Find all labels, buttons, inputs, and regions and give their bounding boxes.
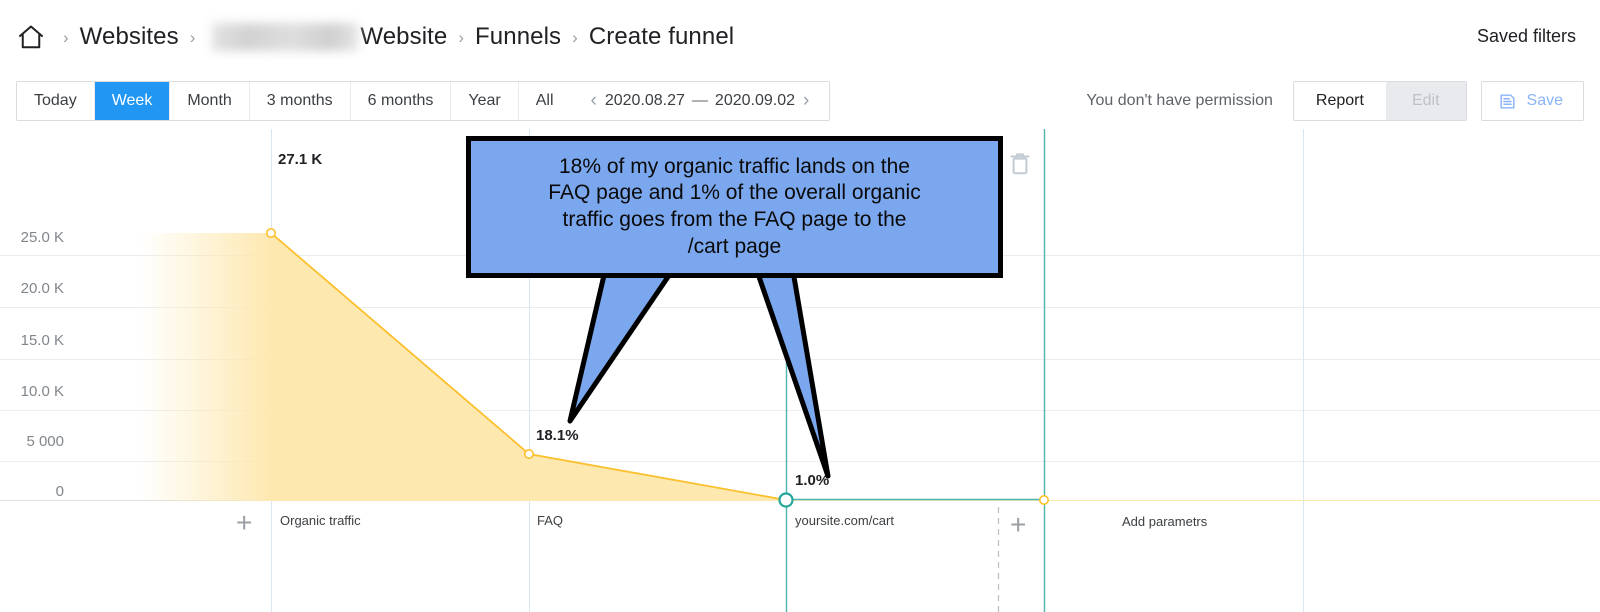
saved-filters-link[interactable]: Saved filters (1477, 26, 1584, 47)
date-range-presets: Today Week Month 3 months 6 months Year … (16, 81, 572, 121)
breadcrumb-separator-2: › (458, 28, 464, 48)
date-range-dash: — (685, 92, 715, 110)
range-year[interactable]: Year (451, 82, 518, 120)
breadcrumb-separator-0: › (63, 28, 69, 48)
y-tick-20k: 20.0 K (0, 280, 64, 297)
date-from[interactable]: 2020.08.27 (605, 92, 685, 110)
report-edit-toggle: Report Edit (1293, 81, 1467, 121)
breadcrumb-item-funnels[interactable]: Funnels (475, 23, 561, 51)
y-tick-5000: 5 000 (0, 433, 64, 450)
date-to[interactable]: 2020.09.02 (715, 92, 795, 110)
toolbar-actions: You don't have permission Report Edit Sa… (1086, 81, 1584, 121)
y-tick-15k: 15.0 K (0, 332, 64, 349)
conversion-label-cart: 1.0% (795, 472, 829, 489)
conversion-label-faq: 18.1% (536, 427, 579, 444)
y-tick-10k: 10.0 K (0, 383, 64, 400)
data-point-organic-traffic (267, 229, 275, 237)
annotation-callout-text: 18% of my organic traffic lands on the F… (532, 154, 936, 261)
breadcrumb: › Websites › Website › Funnels › Create … (0, 0, 1600, 73)
chevron-left-icon[interactable]: ‹ (583, 90, 605, 112)
funnel-chart: 25.0 K 20.0 K 15.0 K 10.0 K 5 000 0 27.1… (0, 129, 1600, 612)
data-point-faq (525, 450, 533, 458)
date-range-navigator: ‹ 2020.08.27 — 2020.09.02 › (571, 81, 831, 121)
breadcrumb-redacted-site-name (212, 23, 358, 51)
step-label-organic-traffic[interactable]: Organic traffic (280, 513, 361, 528)
edit-button: Edit (1386, 82, 1466, 120)
toolbar: Today Week Month 3 months 6 months Year … (0, 73, 1600, 129)
add-step-button-right[interactable]: + (1010, 511, 1026, 539)
permission-note: You don't have permission (1086, 92, 1273, 110)
breadcrumb-separator-3: › (572, 28, 578, 48)
breadcrumb-item-create-funnel[interactable]: Create funnel (589, 23, 734, 51)
home-icon[interactable] (16, 22, 52, 52)
range-3-months[interactable]: 3 months (250, 82, 351, 120)
trash-icon (1008, 151, 1032, 177)
y-tick-25k: 25.0 K (0, 229, 64, 246)
save-button[interactable]: Save (1481, 81, 1584, 121)
range-today[interactable]: Today (17, 82, 95, 120)
chevron-right-icon[interactable]: › (795, 90, 817, 112)
breadcrumb-item-websites[interactable]: Websites (80, 23, 179, 51)
value-label-organic-traffic: 27.1 K (278, 151, 322, 168)
add-step-button-left[interactable]: + (236, 509, 252, 537)
range-all[interactable]: All (519, 82, 571, 120)
save-button-label: Save (1527, 92, 1563, 110)
range-6-months[interactable]: 6 months (351, 82, 452, 120)
report-button[interactable]: Report (1294, 82, 1386, 120)
step-label-faq[interactable]: FAQ (537, 513, 563, 528)
range-week[interactable]: Week (95, 82, 171, 120)
data-point-cart (780, 494, 793, 507)
area-fade-left (140, 233, 272, 501)
step-label-cart[interactable]: yoursite.com/cart (795, 513, 894, 528)
step-label-add-parametrs[interactable]: Add parametrs (1122, 514, 1207, 529)
save-icon (1498, 92, 1517, 111)
breadcrumb-item-website[interactable]: Website (360, 23, 447, 51)
data-point-add-parametrs (1040, 496, 1048, 504)
breadcrumb-separator-1: › (190, 28, 196, 48)
annotation-callout[interactable]: 18% of my organic traffic lands on the F… (466, 136, 1003, 278)
delete-step-button[interactable] (1008, 151, 1032, 182)
range-month[interactable]: Month (170, 82, 249, 120)
y-tick-0: 0 (0, 483, 64, 500)
